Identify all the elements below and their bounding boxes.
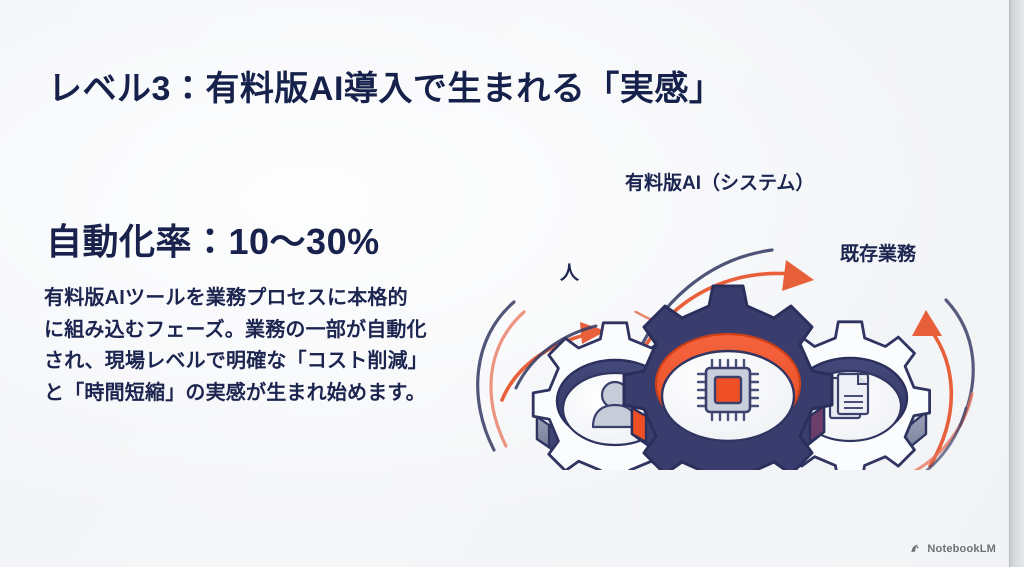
body-line-2: に組み込むフェーズ。業務の一部が自動化	[44, 315, 454, 347]
automation-rate-stat: 自動化率：10〜30%	[46, 213, 380, 265]
ai-gear	[624, 286, 832, 470]
slide-canvas: レベル3：有料版AI導入で生まれる「実感」 自動化率：10〜30% 有料版AIツ…	[0, 0, 1024, 567]
body-paragraph: 有料版AIツールを業務プロセスに本格的 に組み込むフェーズ。業務の一部が自動化 …	[44, 283, 454, 409]
right-edge-band	[1009, 0, 1024, 567]
arrow-top-right-head	[782, 260, 814, 291]
documents-icon	[830, 374, 868, 418]
notebooklm-label: NotebookLM	[927, 543, 996, 555]
page-title: レベル3：有料版AI導入で生まれる「実感」	[48, 61, 723, 110]
arc-left-outer	[478, 302, 514, 450]
notebooklm-watermark: NotebookLM	[909, 542, 996, 555]
notebooklm-logo-icon	[909, 542, 922, 555]
body-line-4: と「時間短縮」の実感が生まれ始めます。	[44, 378, 454, 410]
cpu-chip-icon	[698, 360, 758, 420]
body-line-3: され、現場レベルで明確な「コスト削減」	[44, 346, 454, 378]
arrow-right-up-head	[912, 310, 942, 336]
body-line-1: 有料版AIツールを業務プロセスに本格的	[44, 283, 454, 315]
gear-flow-diagram	[460, 150, 1005, 470]
